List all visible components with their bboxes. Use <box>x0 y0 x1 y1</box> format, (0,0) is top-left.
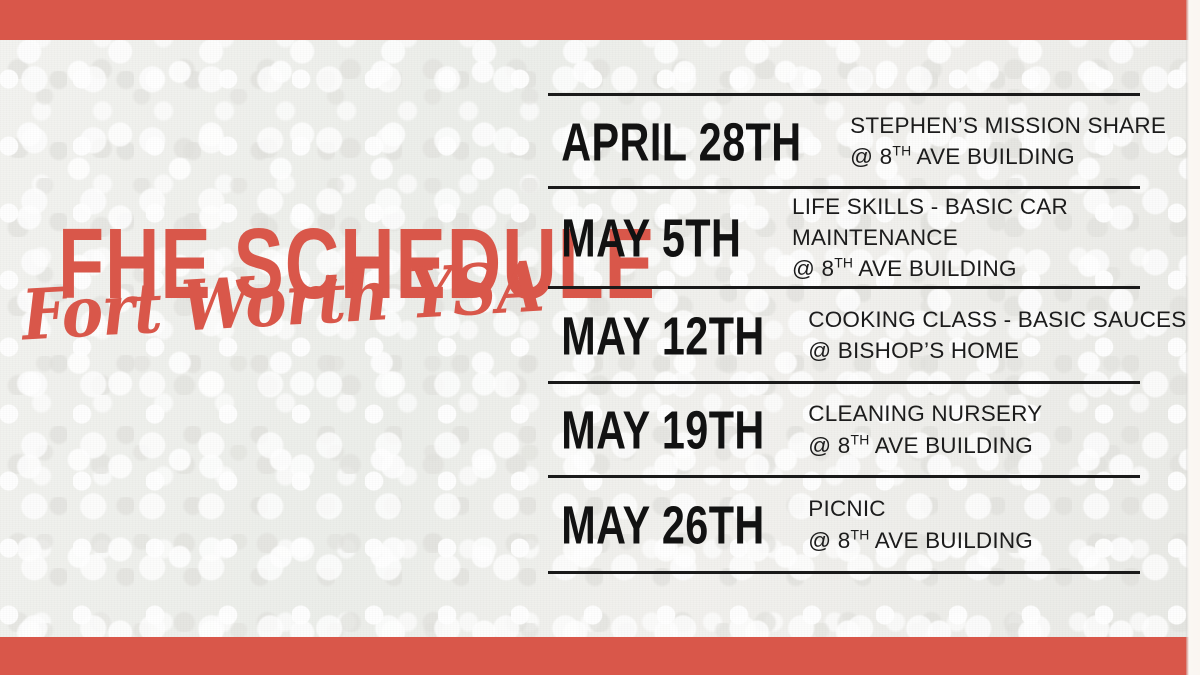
schedule-row: MAY 12TH COOKING CLASS - BASIC SAUCES @ … <box>548 289 1140 381</box>
description-line: PICNIC <box>808 493 1140 524</box>
top-accent-bar <box>0 0 1200 40</box>
description-line: COOKING CLASS - BASIC SAUCES <box>808 304 1186 335</box>
description-line: MAINTENANCE <box>792 222 1140 253</box>
description-text: CLEANING NURSERY <box>808 401 1042 426</box>
schedule-row-description: COOKING CLASS - BASIC SAUCES @ BISHOP’S … <box>794 304 1186 366</box>
description-line: CLEANING NURSERY <box>808 398 1140 429</box>
description-line: STEPHEN’S MISSION SHARE <box>850 110 1166 141</box>
schedule-row: MAY 5TH LIFE SKILLS - BASIC CAR MAINTENA… <box>548 189 1140 286</box>
description-text: PICNIC <box>808 496 885 521</box>
description-text: @ 8 <box>808 528 850 553</box>
description-text: @ 8 <box>792 256 834 281</box>
description-text: @ 8 <box>850 144 892 169</box>
schedule-row-description: PICNIC @ 8TH AVE BUILDING <box>794 493 1140 555</box>
title-block: FHE SCHEDULE Fort Worth YSA <box>0 215 540 395</box>
description-text: LIFE SKILLS - BASIC CAR <box>792 194 1068 219</box>
schedule-row-date: MAY 12TH <box>548 308 765 362</box>
description-line: @ 8TH AVE BUILDING <box>808 430 1140 461</box>
schedule-row-description: STEPHEN’S MISSION SHARE @ 8TH AVE BUILDI… <box>836 110 1166 172</box>
schedule-row-date: MAY 26TH <box>548 498 765 552</box>
description-line: @ BISHOP’S HOME <box>808 335 1186 366</box>
ordinal-suffix: TH <box>851 431 870 447</box>
bottom-accent-bar <box>0 637 1200 675</box>
schedule-row-date: APRIL 28TH <box>548 114 802 168</box>
schedule-row: MAY 26TH PICNIC @ 8TH AVE BUILDING <box>548 478 1140 571</box>
description-line: @ 8TH AVE BUILDING <box>792 253 1140 284</box>
slide-canvas: FHE SCHEDULE Fort Worth YSA APRIL 28TH S… <box>0 0 1200 675</box>
description-text: @ 8 <box>808 433 850 458</box>
description-text: @ BISHOP’S HOME <box>808 338 1019 363</box>
description-text: STEPHEN’S MISSION SHARE <box>850 113 1166 138</box>
schedule-row-description: CLEANING NURSERY @ 8TH AVE BUILDING <box>794 398 1140 460</box>
ordinal-suffix: TH <box>892 143 911 159</box>
description-text: AVE BUILDING <box>911 144 1074 169</box>
description-line: LIFE SKILLS - BASIC CAR <box>792 191 1140 222</box>
schedule-row: APRIL 28TH STEPHEN’S MISSION SHARE @ 8TH… <box>548 96 1140 186</box>
ordinal-suffix: TH <box>851 526 870 542</box>
schedule-row-description: LIFE SKILLS - BASIC CAR MAINTENANCE @ 8T… <box>778 191 1140 284</box>
schedule-row-date: MAY 5TH <box>548 211 750 265</box>
description-text: AVE BUILDING <box>869 433 1032 458</box>
schedule-row-date: MAY 19TH <box>548 403 765 457</box>
description-line: @ 8TH AVE BUILDING <box>850 141 1166 172</box>
description-text: COOKING CLASS - BASIC SAUCES <box>808 307 1186 332</box>
ordinal-suffix: TH <box>834 255 853 271</box>
schedule-table: APRIL 28TH STEPHEN’S MISSION SHARE @ 8TH… <box>548 93 1140 574</box>
page-right-edge <box>1186 0 1200 675</box>
description-line: @ 8TH AVE BUILDING <box>808 525 1140 556</box>
schedule-row: MAY 19TH CLEANING NURSERY @ 8TH AVE BUIL… <box>548 384 1140 475</box>
description-text: MAINTENANCE <box>792 225 958 250</box>
schedule-divider <box>548 571 1140 574</box>
description-text: AVE BUILDING <box>853 256 1016 281</box>
description-text: AVE BUILDING <box>869 528 1032 553</box>
